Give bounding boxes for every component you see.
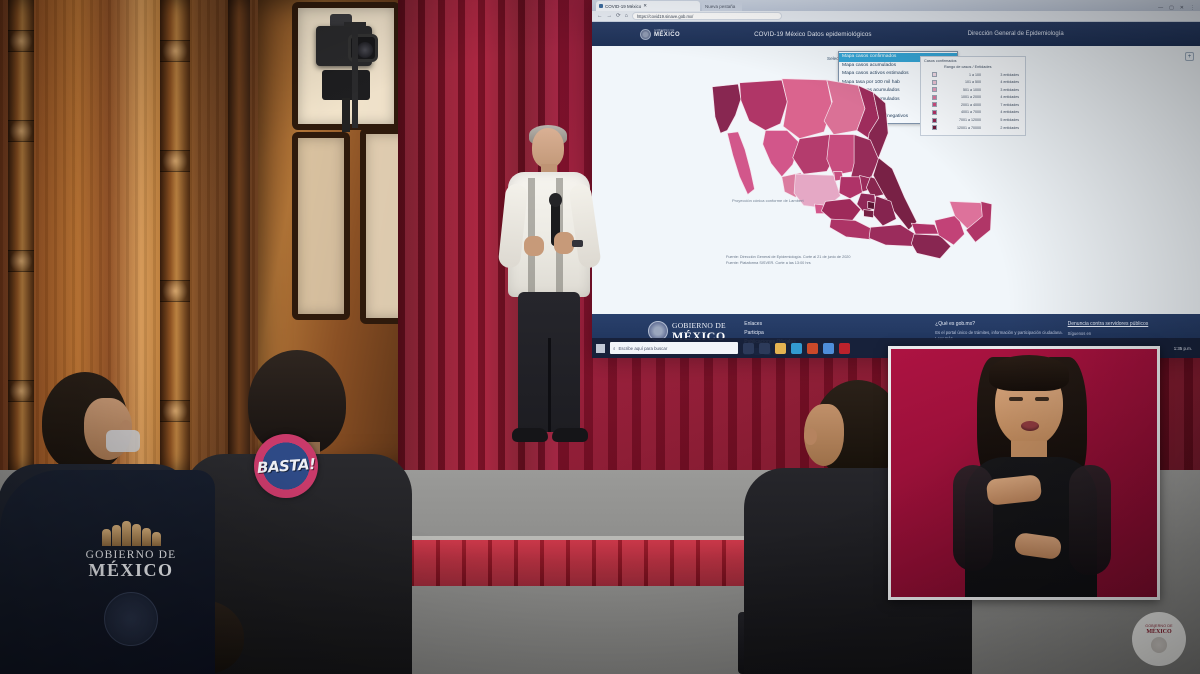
new-tab-label: Nueva pestaña xyxy=(705,4,735,9)
map-state[interactable]: Tabasco xyxy=(911,223,938,234)
tab-title: COVID-19 México xyxy=(605,4,641,9)
map-state[interactable]: Chihuahua xyxy=(782,79,832,139)
jacket-logo-main: MÉXICO xyxy=(66,561,196,580)
interpreter-sleeve-left xyxy=(953,465,993,571)
minimize-button[interactable]: — xyxy=(1158,5,1163,11)
taskbar-search-input[interactable]: ⌕ Escribe aquí para buscar xyxy=(610,342,738,354)
footer-report-link[interactable]: Denuncia contra servidores públicos xyxy=(1068,321,1200,327)
favicon-icon xyxy=(599,4,603,8)
light-stand-arm xyxy=(344,22,366,27)
jacket-gobierno-logo: GOBIERNO DE MÉXICO xyxy=(66,520,196,580)
national-seal-icon xyxy=(640,29,651,40)
face-mask xyxy=(106,430,140,452)
heroes-emblem-icon xyxy=(66,520,196,546)
map-state[interactable]: Baja California xyxy=(712,84,741,133)
presenter-hand-left xyxy=(524,236,544,256)
legend-row: 1 a 1003 entidades xyxy=(924,72,1022,77)
legend-count: 4 entidades xyxy=(985,110,1019,114)
map-sources: Fuente: Dirección General de Epidemiolog… xyxy=(726,254,851,266)
chrome-icon[interactable] xyxy=(823,343,834,354)
legend-count: 3 entidades xyxy=(985,73,1019,77)
reload-icon[interactable]: ⟳ xyxy=(616,13,621,19)
maximize-button[interactable]: ▢ xyxy=(1169,5,1174,11)
legend-range: 1001 a 2000 xyxy=(941,95,981,99)
legend-count: 4 entidades xyxy=(985,95,1019,99)
basta-badge-text: BASTA! xyxy=(256,455,315,477)
task-view-icon[interactable] xyxy=(759,343,770,354)
presenter-speaker xyxy=(494,128,604,480)
close-window-button[interactable]: ✕ xyxy=(1180,5,1184,11)
legend-count: 2 entidades xyxy=(985,126,1019,130)
interpreter-mouth xyxy=(1021,421,1039,431)
forward-arrow-icon[interactable]: → xyxy=(607,13,613,19)
map-state[interactable]: Morelos xyxy=(864,210,875,218)
legend-swatch xyxy=(932,95,937,100)
search-icon: ⌕ xyxy=(613,346,615,351)
presenter-head xyxy=(532,128,564,168)
browser-tab-strip: COVID-19 México ✕ Nueva pestaña — ▢ ✕ ⋮ xyxy=(592,0,1200,11)
brand-main-line: MÉXICO xyxy=(654,32,680,38)
jacket-seal-icon xyxy=(104,592,158,646)
map-state[interactable]: Michoacán xyxy=(821,199,861,222)
map-state[interactable]: Sonora xyxy=(740,80,788,130)
footer-heading-participa[interactable]: Participa xyxy=(744,330,839,336)
powerpoint-icon[interactable] xyxy=(807,343,818,354)
legend-count: 4 entidades xyxy=(985,80,1019,84)
door-panel-left xyxy=(292,132,350,320)
back-arrow-icon[interactable]: ← xyxy=(597,13,603,19)
legend-row: 1001 a 20004 entidades xyxy=(924,95,1022,100)
legend-swatch xyxy=(932,87,937,92)
map-state[interactable]: Baja California Sur xyxy=(727,132,754,195)
legend-range: 12001 a 70000 xyxy=(941,126,981,130)
legend-row: 7001 a 120005 entidades xyxy=(924,118,1022,123)
light-stand xyxy=(352,22,358,128)
interpreter-hair-top xyxy=(989,355,1069,391)
site-header: GOBIERNO DE MÉXICO COVID-19 México Datos… xyxy=(592,22,1200,46)
legend-row: 4001 a 70004 entidades xyxy=(924,110,1022,115)
screenshot-root: COVID-19 México ✕ Nueva pestaña — ▢ ✕ ⋮ … xyxy=(0,0,1200,674)
broadcast-watermark: GOBIERNO DE MÉXICO xyxy=(1132,612,1186,666)
legend-title: Rango de casos / Entidades xyxy=(944,65,1022,69)
search-placeholder: Escribe aquí para buscar xyxy=(618,346,667,351)
carved-column-2 xyxy=(160,0,190,470)
site-brand[interactable]: GOBIERNO DE MÉXICO xyxy=(640,29,680,40)
watermark-seal-icon xyxy=(1151,637,1167,653)
legend-count: 5 entidades xyxy=(985,118,1019,122)
browser-address-bar: ← → ⟳ ⌂ https://covid19.sinave.gob.mx/ xyxy=(592,11,1200,22)
basta-badge: BASTA! xyxy=(254,434,318,498)
browser-menu-button[interactable]: ⋮ xyxy=(1190,5,1195,11)
site-department: Dirección General de Epidemiología xyxy=(968,31,1064,37)
footer-follow-text: Síguenos en xyxy=(1068,331,1200,337)
legend-row: 2001 a 40007 entidades xyxy=(924,102,1022,107)
legend-row-list: 1 a 1003 entidades101 a 5004 entidades50… xyxy=(924,72,1022,130)
home-icon[interactable]: ⌂ xyxy=(625,13,628,19)
presenter-shoe-left xyxy=(512,428,548,442)
legend-swatch xyxy=(932,72,937,77)
legend-swatch xyxy=(932,110,937,115)
browser-tab-active[interactable]: COVID-19 México ✕ xyxy=(596,1,700,11)
sign-language-interpreter-pip xyxy=(888,346,1160,600)
legend-count: 3 entidades xyxy=(985,88,1019,92)
legend-count: 7 entidades xyxy=(985,103,1019,107)
footer-about-heading: ¿Qué es gob.mx? xyxy=(935,321,1067,327)
trouser-split xyxy=(548,338,551,432)
watermark-main: MÉXICO xyxy=(1146,629,1171,635)
map-zoom-in-button[interactable]: + xyxy=(1185,52,1194,61)
presenter-wristwatch xyxy=(572,240,583,247)
legend-swatch xyxy=(932,125,937,130)
legend-range: 4001 a 7000 xyxy=(941,110,981,114)
window-controls: — ▢ ✕ ⋮ xyxy=(1158,5,1200,11)
legend-range: 7001 a 12000 xyxy=(941,118,981,122)
browser-tab-new[interactable]: Nueva pestaña xyxy=(702,1,742,11)
taskbar-clock[interactable]: 1:35 p.m. xyxy=(1174,346,1196,351)
map-projection-note: Proyección cónica conforme de Lambert xyxy=(732,198,804,203)
url-input[interactable]: https://covid19.sinave.gob.mx/ xyxy=(632,12,782,20)
acrobat-icon[interactable] xyxy=(839,343,850,354)
legend-row: 12001 a 700002 entidades xyxy=(924,125,1022,130)
map-legend: Casos confirmados Rango de casos / Entid… xyxy=(920,56,1026,136)
map-state[interactable]: Ciudad de México xyxy=(868,201,875,209)
edge-icon[interactable] xyxy=(791,343,802,354)
audience-ear xyxy=(804,428,817,445)
legend-range: 1 a 100 xyxy=(941,73,981,77)
site-title: COVID-19 México Datos epidemiológicos xyxy=(754,31,872,38)
legend-range: 101 a 500 xyxy=(941,80,981,84)
presenter-hand-right xyxy=(554,232,574,254)
dashboard-body: Selecciona el mapa Mapa casos confirmado… xyxy=(592,46,1200,314)
projection-screen: COVID-19 México ✕ Nueva pestaña — ▢ ✕ ⋮ … xyxy=(592,0,1200,358)
footer-heading-enlaces[interactable]: Enlaces xyxy=(744,321,839,327)
map-source-line: Fuente: Plataforma SISVER. Corte a las 1… xyxy=(726,260,851,266)
legend-swatch xyxy=(932,80,937,85)
legend-row: 101 a 5004 entidades xyxy=(924,80,1022,85)
tab-close-icon[interactable]: ✕ xyxy=(643,3,647,9)
interpreter-eye-left xyxy=(1009,397,1023,401)
file-explorer-icon[interactable] xyxy=(775,343,786,354)
legend-swatch xyxy=(932,102,937,107)
url-text: https://covid19.sinave.gob.mx/ xyxy=(637,14,693,19)
interpreter-sleeve-right xyxy=(1069,465,1111,575)
legend-range: 2001 a 4000 xyxy=(941,103,981,107)
legend-range: 501 a 1000 xyxy=(941,88,981,92)
presenter-shoe-right xyxy=(552,428,588,442)
legend-swatch xyxy=(932,118,937,123)
legend-row: 501 a 10003 entidades xyxy=(924,87,1022,92)
legend-header: Casos confirmados xyxy=(924,59,1022,63)
cortana-icon[interactable] xyxy=(743,343,754,354)
map-state[interactable]: Guerrero xyxy=(830,219,872,239)
interpreter-eye-right xyxy=(1035,397,1049,401)
